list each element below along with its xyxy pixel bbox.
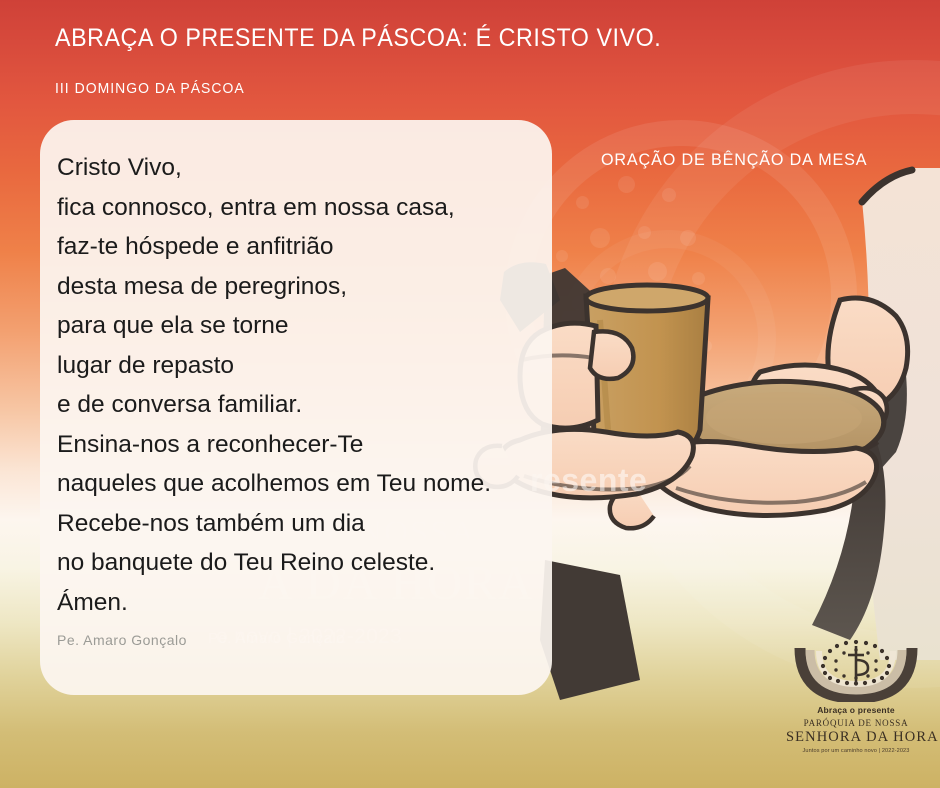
prayer-line: Ensina-nos a reconhecer-Te xyxy=(57,425,557,465)
prayer-line: para que ela se torne xyxy=(57,306,557,346)
poster: resente DE NOSSA A DA HORA o novo | 2022… xyxy=(0,0,940,788)
prayer-line: naqueles que acolhemos em Teu nome. xyxy=(57,464,557,504)
prayer-line: lugar de repasto xyxy=(57,346,557,386)
page-subtitle: III DOMINGO DA PÁSCOA xyxy=(55,80,245,97)
prayer-line: Recebe-nos também um dia xyxy=(57,504,557,544)
prayer-text: Cristo Vivo, fica connosco, entra em nos… xyxy=(57,148,557,622)
prayer-line: no banquete do Teu Reino celeste. xyxy=(57,543,557,583)
prayer-line: e de conversa familiar. xyxy=(57,385,557,425)
parish-logo: Abraça o presente PARÓQUIA DE NOSSA SENH… xyxy=(786,640,926,760)
logo-line-3: SENHORA DA HORA xyxy=(786,729,926,746)
logo-line-1: Abraça o presente xyxy=(786,705,926,715)
logo-line-2: PARÓQUIA DE NOSSA xyxy=(786,718,926,728)
parish-emblem-icon xyxy=(786,640,926,702)
prayer-line: desta mesa de peregrinos, xyxy=(57,267,557,307)
prayer-line: Cristo Vivo, xyxy=(57,148,557,188)
prayer-line: faz-te hóspede e anfitrião xyxy=(57,227,557,267)
prayer-author: Pe. Amaro Gonçalo xyxy=(57,632,187,648)
page-title: ABRAÇA O PRESENTE DA PÁSCOA: É CRISTO VI… xyxy=(55,24,661,53)
prayer-line: fica connosco, entra em nossa casa, xyxy=(57,188,557,228)
prayer-line: Ámen. xyxy=(57,583,557,623)
section-label: ORAÇÃO DE BÊNÇÃO DA MESA xyxy=(601,150,867,170)
logo-line-4: Juntos por um caminho novo | 2022-2023 xyxy=(786,748,926,754)
